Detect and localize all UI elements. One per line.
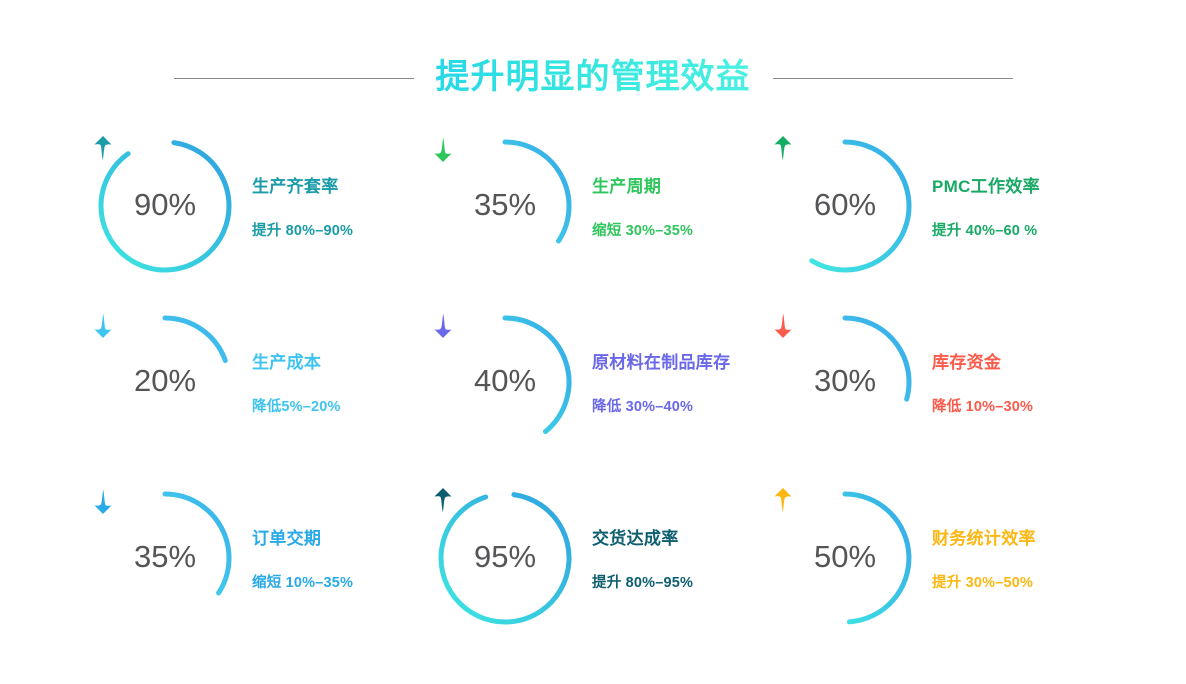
metric-title: 生产周期 bbox=[592, 172, 693, 197]
metric-subtitle: 降低5%–20% bbox=[252, 395, 341, 416]
metrics-grid: 90%生产齐套率提升 80%–90%35%生产周期缩短 30%–35%60%PM… bbox=[90, 118, 1100, 658]
percent-value: 50% bbox=[814, 541, 876, 572]
percent-value: 90% bbox=[134, 189, 196, 220]
metric-text-block: 生产齐套率提升 80%–90% bbox=[252, 172, 353, 240]
progress-ring: 35% bbox=[90, 483, 240, 633]
arrow-down-icon bbox=[770, 311, 796, 339]
ring-center: 90% bbox=[90, 131, 240, 281]
metric-text-block: 生产成本降低5%–20% bbox=[252, 348, 341, 416]
metric-subtitle: 提升 40%–60 % bbox=[932, 219, 1040, 240]
progress-ring: 35% bbox=[430, 131, 580, 281]
percent-value: 95% bbox=[474, 541, 536, 572]
ring-center: 95% bbox=[430, 483, 580, 633]
progress-ring: 90% bbox=[90, 131, 240, 281]
page-header: 提升明显的管理效益 bbox=[0, 50, 1186, 106]
metric-card-production-cost: 20%生产成本降低5%–20% bbox=[90, 294, 430, 470]
arrow-down-icon bbox=[90, 487, 116, 515]
metric-subtitle: 降低 30%–40% bbox=[592, 395, 730, 416]
percent-value: 35% bbox=[474, 189, 536, 220]
header-rule-left bbox=[174, 78, 414, 79]
metric-title: PMC工作效率 bbox=[932, 172, 1040, 197]
metric-card-financial-statistics-efficiency: 50%财务统计效率提升 30%–50% bbox=[770, 470, 1110, 646]
metric-text-block: 财务统计效率提升 30%–50% bbox=[932, 524, 1036, 592]
progress-ring: 50% bbox=[770, 483, 920, 633]
ring-center: 50% bbox=[770, 483, 920, 633]
metric-title: 生产齐套率 bbox=[252, 172, 353, 197]
metric-card-inventory-capital: 30%库存资金降低 10%–30% bbox=[770, 294, 1110, 470]
metric-subtitle: 缩短 10%–35% bbox=[252, 571, 353, 592]
progress-ring: 20% bbox=[90, 307, 240, 457]
percent-value: 30% bbox=[814, 365, 876, 396]
arrow-up-icon bbox=[770, 487, 796, 515]
arrow-down-icon bbox=[430, 311, 456, 339]
progress-ring: 95% bbox=[430, 483, 580, 633]
ring-center: 60% bbox=[770, 131, 920, 281]
arrow-up-icon bbox=[770, 135, 796, 163]
metric-title: 生产成本 bbox=[252, 348, 341, 373]
metric-subtitle: 提升 30%–50% bbox=[932, 571, 1036, 592]
metric-title: 订单交期 bbox=[252, 524, 353, 549]
metric-text-block: PMC工作效率提升 40%–60 % bbox=[932, 172, 1040, 240]
progress-ring: 30% bbox=[770, 307, 920, 457]
ring-center: 40% bbox=[430, 307, 580, 457]
ring-center: 20% bbox=[90, 307, 240, 457]
metric-subtitle: 提升 80%–90% bbox=[252, 219, 353, 240]
metric-title: 原材料在制品库存 bbox=[592, 348, 730, 373]
ring-center: 35% bbox=[430, 131, 580, 281]
arrow-up-icon bbox=[90, 135, 116, 163]
metric-card-delivery-achievement-rate: 95%交货达成率提升 80%–95% bbox=[430, 470, 770, 646]
metric-card-production-cycle: 35%生产周期缩短 30%–35% bbox=[430, 118, 770, 294]
header-rule-right bbox=[773, 78, 1013, 79]
metric-title: 财务统计效率 bbox=[932, 524, 1036, 549]
metric-subtitle: 缩短 30%–35% bbox=[592, 219, 693, 240]
metric-text-block: 交货达成率提升 80%–95% bbox=[592, 524, 693, 592]
progress-ring: 40% bbox=[430, 307, 580, 457]
metric-subtitle: 降低 10%–30% bbox=[932, 395, 1033, 416]
progress-ring: 60% bbox=[770, 131, 920, 281]
percent-value: 40% bbox=[474, 365, 536, 396]
metric-text-block: 原材料在制品库存降低 30%–40% bbox=[592, 348, 730, 416]
metric-title: 交货达成率 bbox=[592, 524, 693, 549]
percent-value: 35% bbox=[134, 541, 196, 572]
metric-card-production-kitting-rate: 90%生产齐套率提升 80%–90% bbox=[90, 118, 430, 294]
metric-text-block: 订单交期缩短 10%–35% bbox=[252, 524, 353, 592]
ring-center: 30% bbox=[770, 307, 920, 457]
metric-card-raw-material-wip-inventory: 40%原材料在制品库存降低 30%–40% bbox=[430, 294, 770, 470]
percent-value: 20% bbox=[134, 365, 196, 396]
metric-subtitle: 提升 80%–95% bbox=[592, 571, 693, 592]
infographic-page: 提升明显的管理效益 90%生产齐套率提升 80%–90%35%生产周期缩短 30… bbox=[0, 0, 1186, 684]
metric-title: 库存资金 bbox=[932, 348, 1033, 373]
metric-card-order-lead-time: 35%订单交期缩短 10%–35% bbox=[90, 470, 430, 646]
page-title: 提升明显的管理效益 bbox=[436, 57, 751, 100]
arrow-down-icon bbox=[90, 311, 116, 339]
arrow-up-icon bbox=[430, 487, 456, 515]
metric-text-block: 生产周期缩短 30%–35% bbox=[592, 172, 693, 240]
arrow-down-icon bbox=[430, 135, 456, 163]
metric-text-block: 库存资金降低 10%–30% bbox=[932, 348, 1033, 416]
ring-center: 35% bbox=[90, 483, 240, 633]
percent-value: 60% bbox=[814, 189, 876, 220]
metric-card-pmc-work-efficiency: 60%PMC工作效率提升 40%–60 % bbox=[770, 118, 1110, 294]
